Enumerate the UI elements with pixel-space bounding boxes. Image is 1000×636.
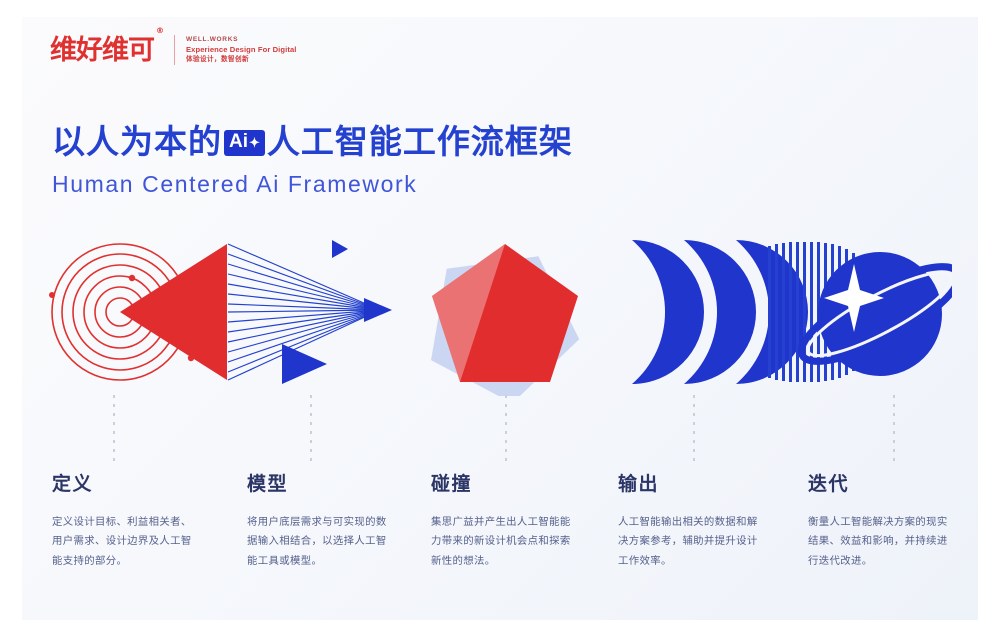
connector-dots-4 [693,395,695,463]
connector-dots-2 [310,395,312,463]
step-description: 衡量人工智能解决方案的现实结果、效益和影响，并持续进行迭代改进。 [808,513,958,571]
tagline-main: Experience Design For Digital [186,45,297,55]
step-column-2: 模型 将用户底层需求与可实现的数据输入相结合，以选择人工智能工具或模型。 [247,469,397,571]
connector-dots-1 [113,395,115,463]
icon-row [22,222,978,392]
tagline-cn: 体验设计，数智创新 [186,55,297,64]
brand-logo: 维好维可® WELL.WORKS Experience Design For D… [50,35,297,65]
slide-canvas: 维好维可® WELL.WORKS Experience Design For D… [22,17,978,620]
tagline-top: WELL.WORKS [186,36,297,45]
title-suffix: 人工智能工作流框架 [267,122,573,162]
logo-tagline: WELL.WORKS Experience Design For Digital… [186,36,297,65]
connector-dots-5 [893,395,895,463]
step-column-5: 迭代 衡量人工智能解决方案的现实结果、效益和影响，并持续进行迭代改进。 [808,469,958,571]
ai-badge: Ai ✦ [224,130,265,156]
step-title: 模型 [247,469,397,496]
step-column-4: 输出 人工智能输出相关的数据和解决方案参考，辅助并提升设计工作效率。 [618,469,768,571]
pentagon-prism-icon [420,236,590,401]
step-title: 迭代 [808,469,958,496]
title-prefix: 以人为本的 [52,122,222,162]
step-title: 碰撞 [431,469,581,496]
connector-dots-3 [505,395,507,463]
step-column-3: 碰撞 集思广益并产生出人工智能能力带来的新设计机会点和探索新性的想法。 [431,469,581,571]
logo-wordmark-text: 维好维可 [50,35,154,66]
sparkle-icon: ✦ [249,136,260,149]
blue-crescents-icon [612,232,952,397]
step-title: 定义 [52,469,202,496]
step-description: 将用户底层需求与可实现的数据输入相结合，以选择人工智能工具或模型。 [247,513,397,571]
radar-cone-icon [42,232,402,397]
ai-badge-label: Ai [229,131,248,154]
step-description: 定义设计目标、利益相关者、用户需求、设计边界及人工智能支持的部分。 [52,513,202,571]
page-subtitle: Human Centered Ai Framework [52,171,573,198]
registered-mark-icon: ® [156,26,163,35]
step-description: 集思广益并产生出人工智能能力带来的新设计机会点和探索新性的想法。 [431,513,581,571]
page-title: 以人为本的 Ai ✦ 人工智能工作流框架 [52,122,573,162]
logo-wordmark: 维好维可® [50,37,161,64]
step-description: 人工智能输出相关的数据和解决方案参考，辅助并提升设计工作效率。 [618,513,768,571]
step-column-1: 定义 定义设计目标、利益相关者、用户需求、设计边界及人工智能支持的部分。 [52,469,202,571]
step-title: 输出 [618,469,768,496]
title-block: 以人为本的 Ai ✦ 人工智能工作流框架 Human Centered Ai F… [52,122,573,198]
logo-divider [174,35,175,65]
